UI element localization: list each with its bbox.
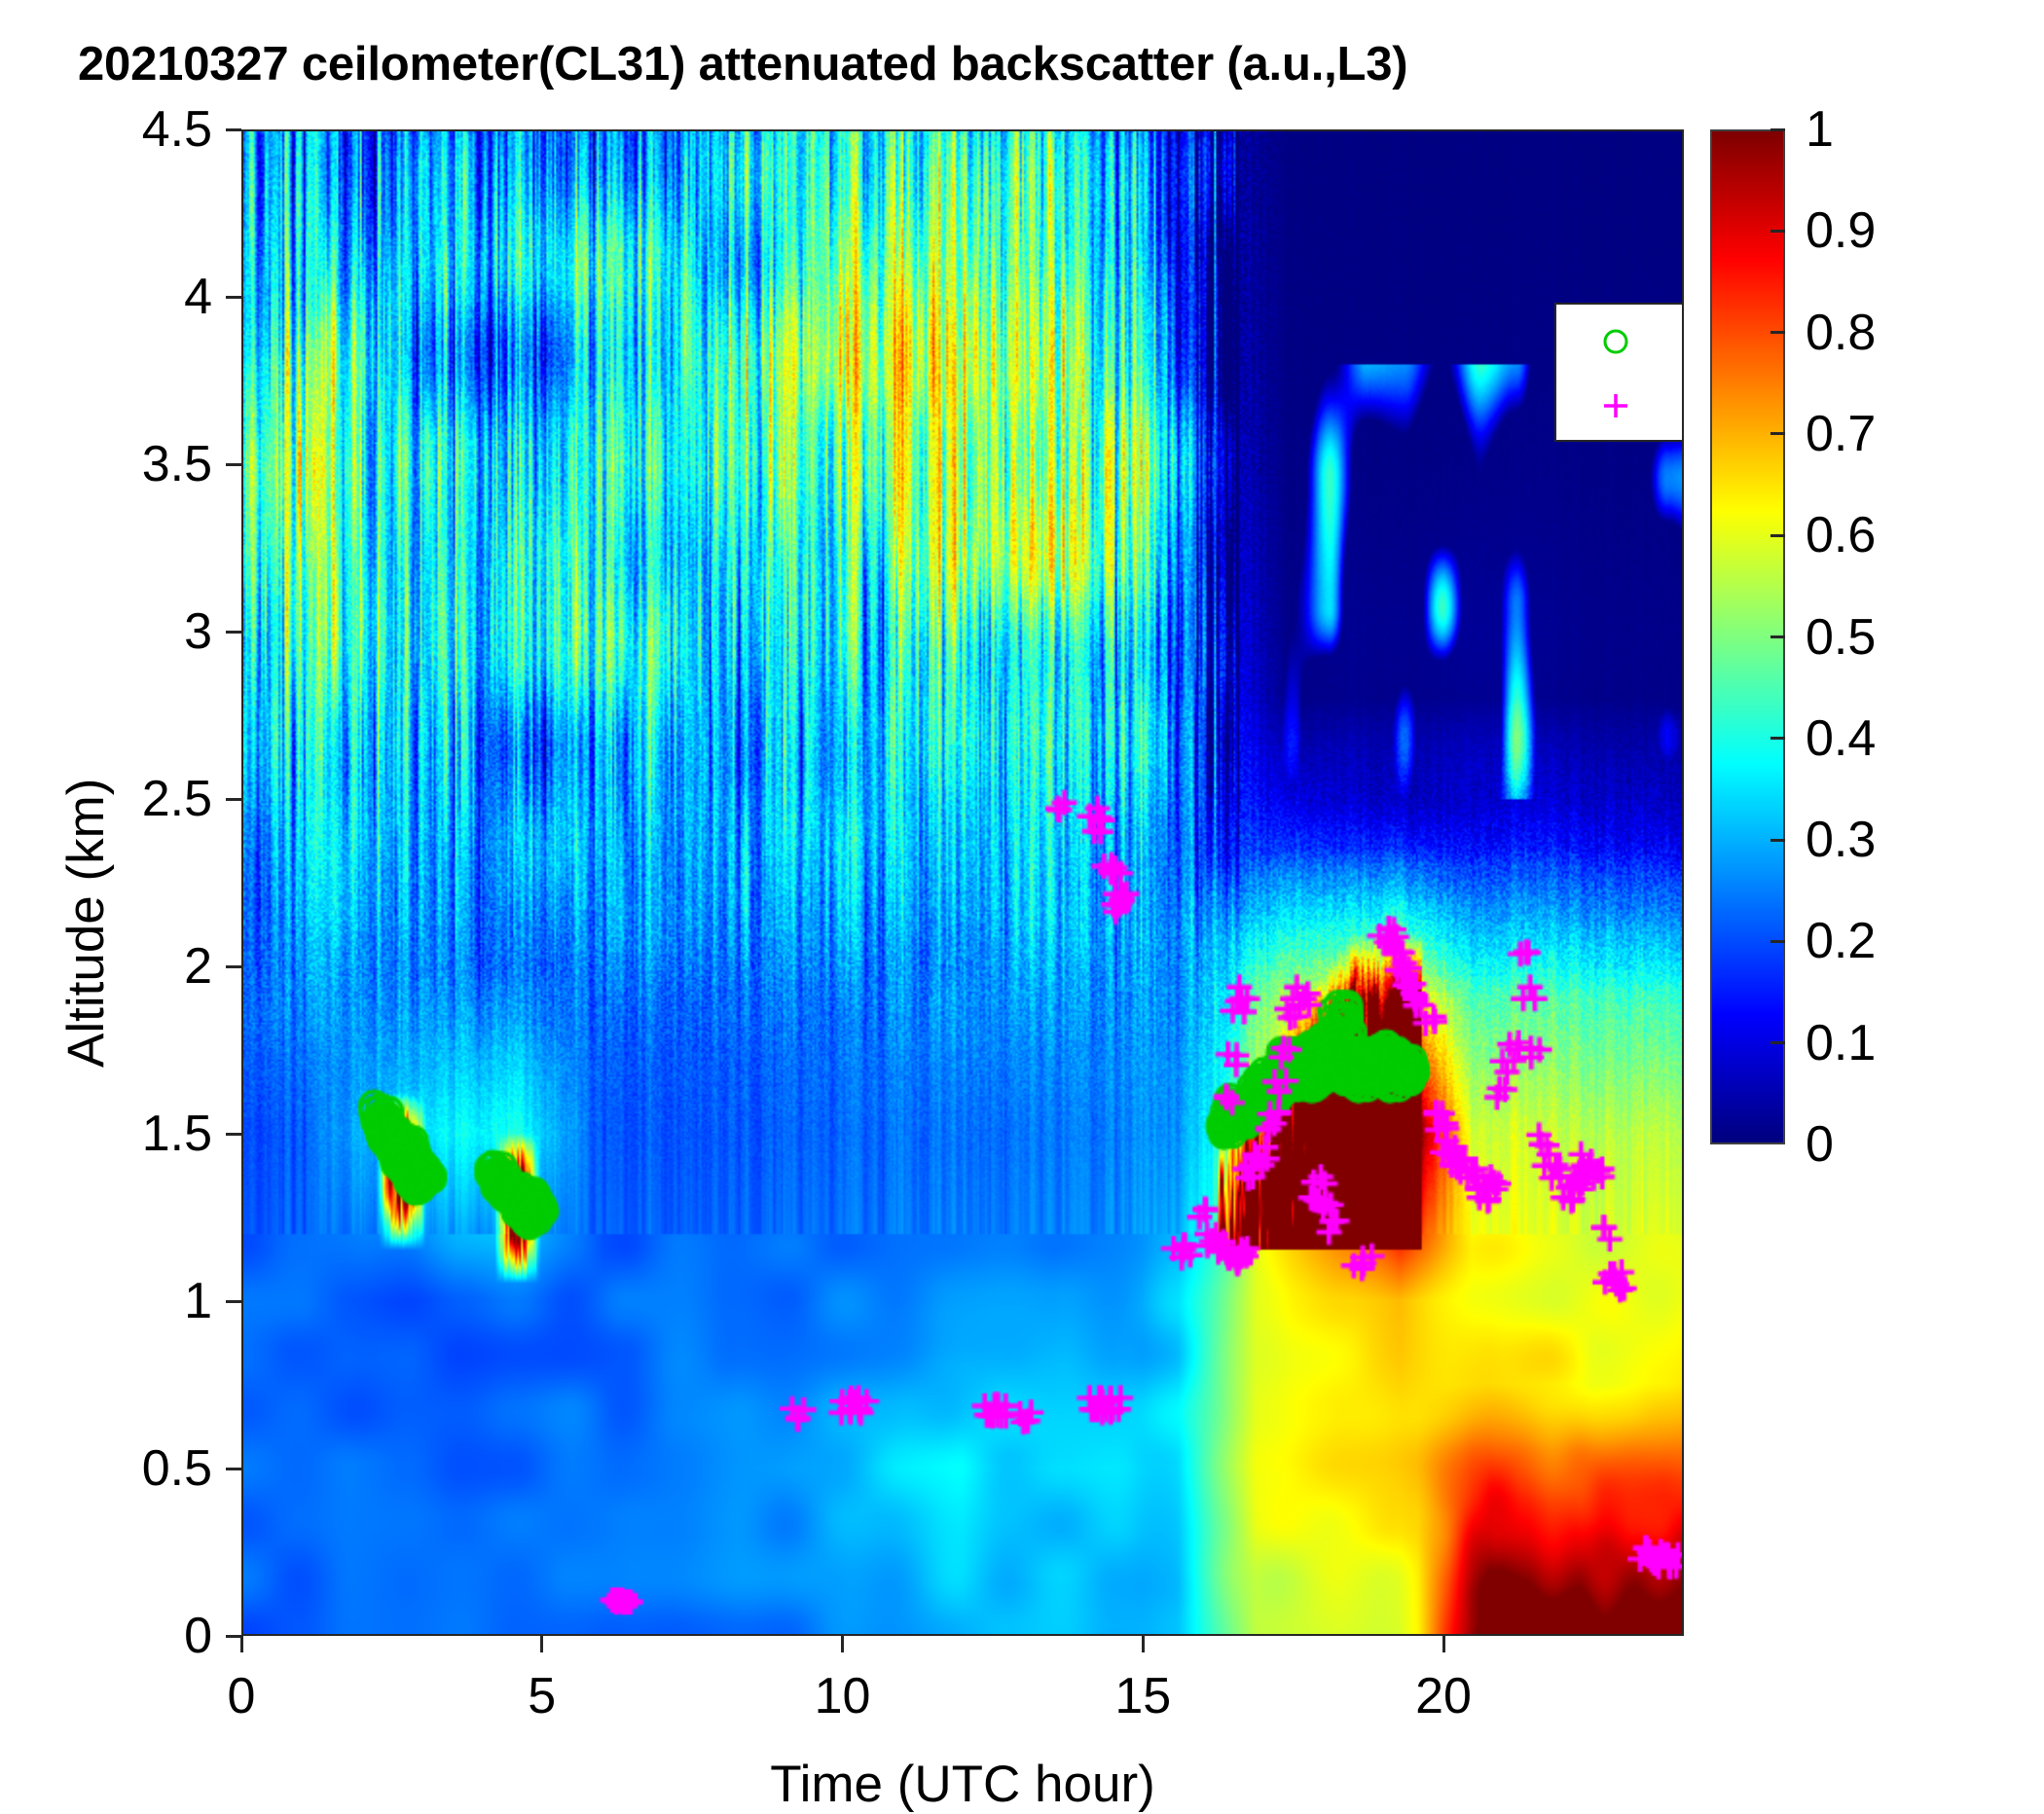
- y-tick-label: 0: [0, 1607, 212, 1665]
- y-tick-label: 2: [0, 937, 212, 996]
- ceilometer-backscatter-figure: 20210327 ceilometer(CL31) attenuated bac…: [0, 0, 2044, 1752]
- y-tick-label: 3.5: [0, 435, 212, 493]
- page-title: 20210327 ceilometer(CL31) attenuated bac…: [78, 37, 1927, 91]
- colorbar-tick-mark: [1770, 839, 1785, 842]
- x-tick-label: 0: [228, 1667, 256, 1725]
- colorbar-tick-label: 0.4: [1806, 709, 1876, 768]
- plus-marker-icon: [1599, 389, 1632, 422]
- y-tick-mark: [226, 1133, 241, 1136]
- y-tick-mark: [226, 296, 241, 299]
- colorbar-tick-label: 0.2: [1806, 912, 1876, 970]
- x-tick-mark: [1142, 1636, 1145, 1652]
- x-tick-mark: [540, 1636, 543, 1652]
- colorbar-tick-mark: [1770, 230, 1785, 233]
- x-tick-label: 10: [815, 1667, 871, 1725]
- y-tick-label: 0.5: [0, 1439, 212, 1498]
- colorbar-tick-label: 0.8: [1806, 304, 1876, 362]
- colorbar-tick-mark: [1770, 432, 1785, 435]
- legend-entry-cldbase: CldBase: [1556, 310, 1684, 373]
- y-tick-mark: [226, 965, 241, 968]
- x-tick-label: 20: [1415, 1667, 1472, 1725]
- y-tick-mark: [226, 631, 241, 634]
- y-tick-mark: [226, 1468, 241, 1470]
- x-tick-mark: [240, 1636, 243, 1652]
- heatmap-plot-area: CldBase MLH: [241, 129, 1684, 1636]
- y-tick-mark: [226, 128, 241, 131]
- legend-label-mlh: MLH: [1683, 380, 1684, 433]
- marker-overlay-canvas: [243, 131, 1682, 1634]
- colorbar-tick-mark: [1770, 128, 1785, 131]
- colorbar-tick-label: 0: [1806, 1115, 1834, 1174]
- x-tick-label: 5: [528, 1667, 556, 1725]
- legend-label-cldbase: CldBase: [1683, 315, 1684, 369]
- x-tick-mark: [1442, 1636, 1445, 1652]
- colorbar-tick-label: 0.7: [1806, 405, 1876, 463]
- colorbar-tick-mark: [1770, 940, 1785, 943]
- colorbar-tick-mark: [1770, 534, 1785, 537]
- y-tick-label: 1.5: [0, 1105, 212, 1163]
- colorbar-tick-mark: [1770, 737, 1785, 740]
- y-tick-label: 4.5: [0, 100, 212, 159]
- x-axis-label: Time (UTC hour): [770, 1755, 1155, 1814]
- y-tick-mark: [226, 1300, 241, 1303]
- colorbar-tick-label: 0.5: [1806, 608, 1876, 667]
- colorbar-tick-mark: [1770, 635, 1785, 638]
- colorbar-tick-label: 0.3: [1806, 811, 1876, 869]
- colorbar-tick-mark: [1770, 1041, 1785, 1044]
- x-tick-mark: [841, 1636, 844, 1652]
- colorbar-tick-mark: [1770, 331, 1785, 334]
- y-tick-label: 2.5: [0, 770, 212, 828]
- x-tick-label: 15: [1114, 1667, 1171, 1725]
- legend: CldBase MLH: [1554, 303, 1684, 442]
- y-tick-mark: [226, 798, 241, 801]
- circle-marker-icon: [1599, 325, 1632, 358]
- y-tick-label: 3: [0, 602, 212, 661]
- y-tick-label: 1: [0, 1272, 212, 1330]
- colorbar-tick-label: 0.1: [1806, 1014, 1876, 1072]
- colorbar-tick-label: 1: [1806, 100, 1834, 159]
- y-tick-mark: [226, 463, 241, 466]
- y-tick-label: 4: [0, 268, 212, 326]
- legend-entry-mlh: MLH: [1556, 375, 1684, 437]
- colorbar-tick-label: 0.9: [1806, 201, 1876, 260]
- colorbar-tick-label: 0.6: [1806, 506, 1876, 564]
